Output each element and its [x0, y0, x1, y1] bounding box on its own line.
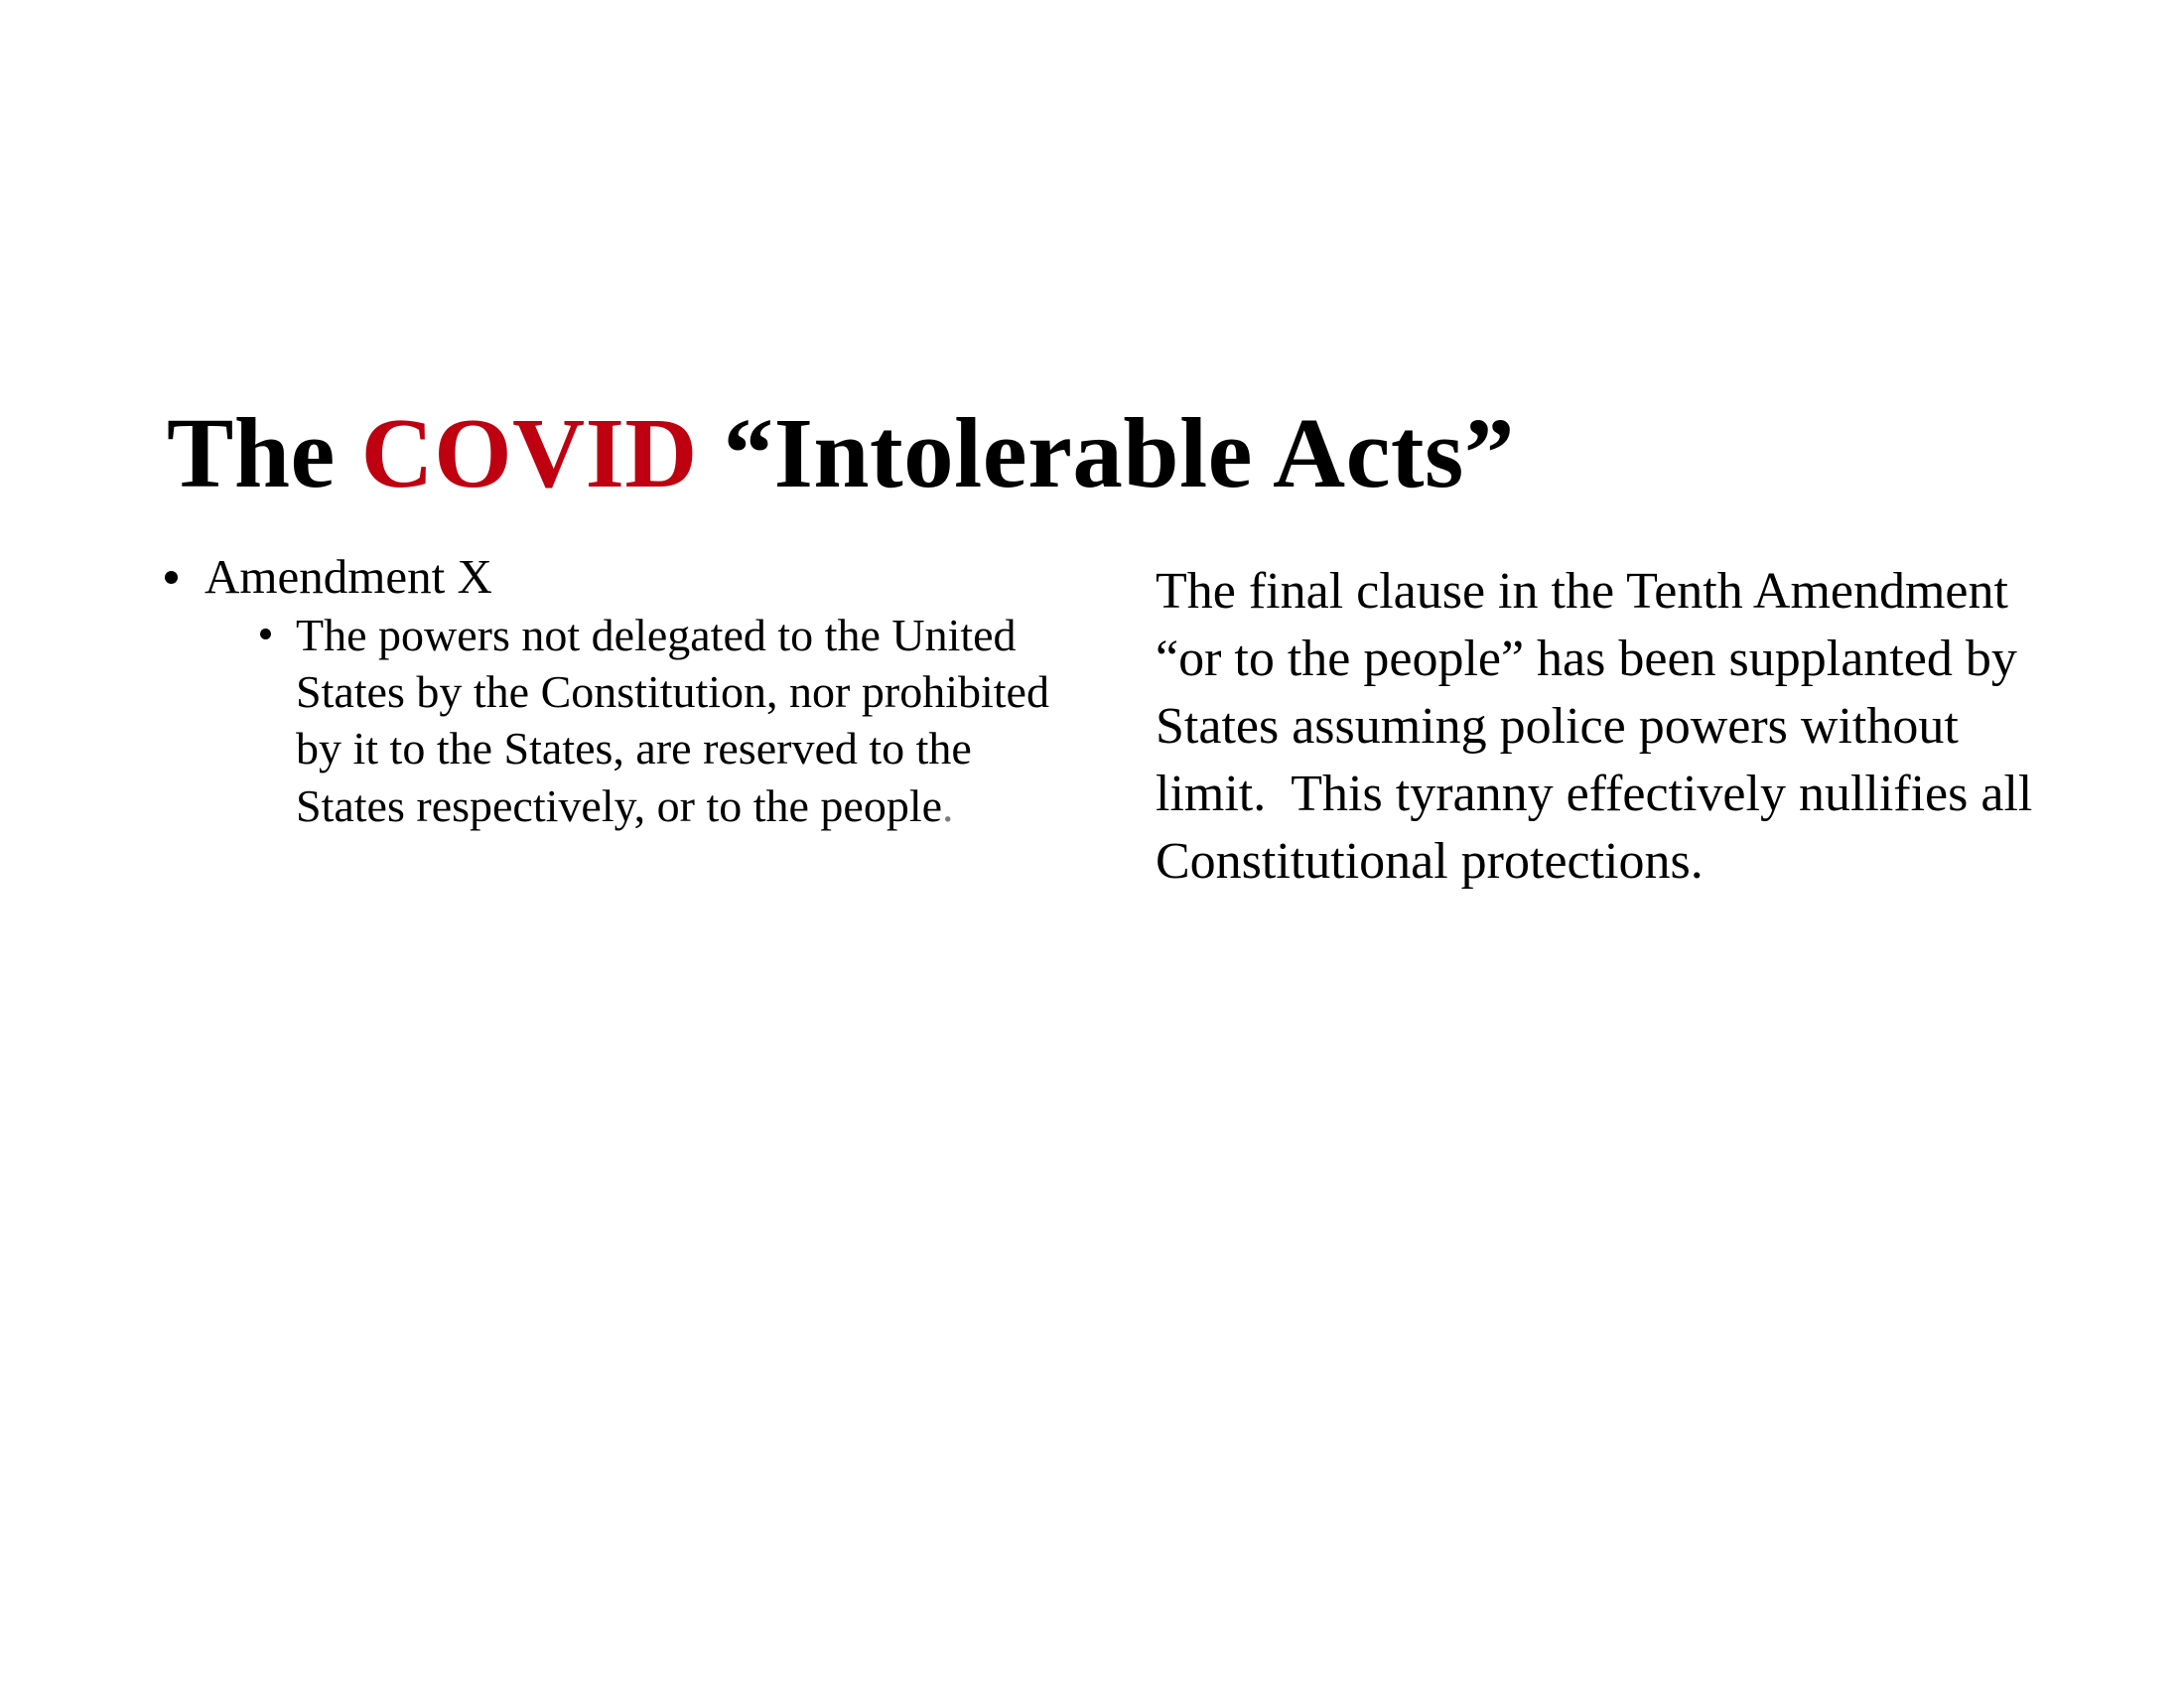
right-column: The final clause in the Tenth Amendment …	[1156, 558, 2049, 897]
page-title: The COVID “Intolerable Acts”	[167, 395, 2053, 511]
title-accent-covid: COVID	[361, 397, 698, 508]
bullet-dot-icon	[165, 571, 178, 584]
title-prefix: The	[167, 397, 361, 508]
presentation-slide: The COVID “Intolerable Acts” Amendment X…	[0, 0, 2184, 1688]
left-column: Amendment X The powers not delegated to …	[159, 548, 1077, 846]
list-item: The powers not delegated to the United S…	[256, 607, 1077, 834]
sub-bullet-text: The powers not delegated to the United S…	[296, 610, 1049, 831]
title-suffix: “Intolerable Acts”	[698, 397, 1515, 508]
bullet-list: Amendment X The powers not delegated to …	[159, 548, 1077, 834]
sub-bullet-trailing-period: .	[942, 780, 954, 831]
sub-bullet-list: The powers not delegated to the United S…	[256, 607, 1077, 834]
bullet-label: Amendment X	[205, 549, 492, 604]
body-columns: Amendment X The powers not delegated to …	[0, 548, 2184, 1104]
list-item: Amendment X The powers not delegated to …	[159, 548, 1077, 834]
sub-bullet-dot-icon	[260, 629, 271, 639]
right-column-paragraph: The final clause in the Tenth Amendment …	[1156, 558, 2049, 897]
